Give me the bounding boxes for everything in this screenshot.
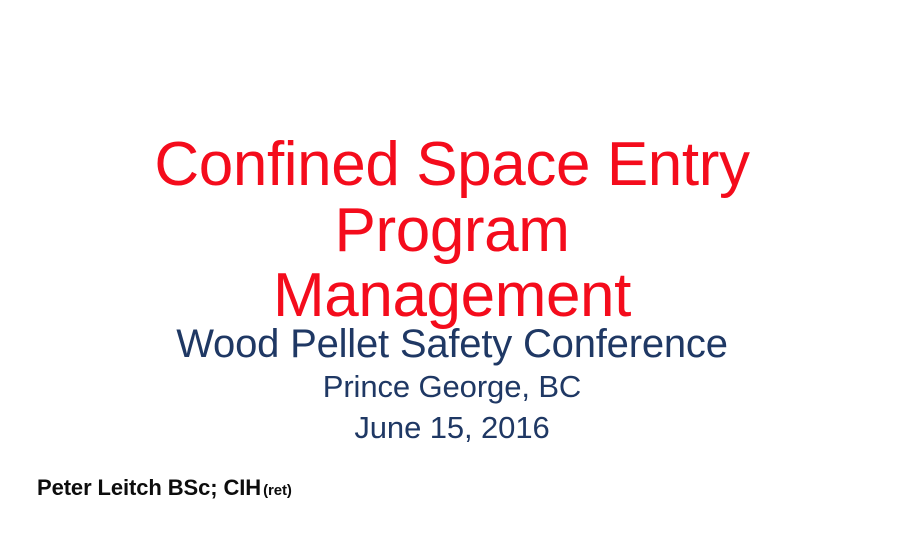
conference-location: Prince George, BC xyxy=(0,367,904,408)
title-block: Confined Space Entry Program Management xyxy=(0,132,904,329)
presenter-block: Peter Leitch BSc; CIH(ret) xyxy=(37,475,292,501)
subtitle-block: Wood Pellet Safety Conference Prince Geo… xyxy=(0,322,904,449)
presenter-name: Peter Leitch BSc; CIH xyxy=(37,475,261,500)
conference-name: Wood Pellet Safety Conference xyxy=(0,322,904,367)
conference-date: June 15, 2016 xyxy=(0,408,904,449)
presentation-title-slide: Confined Space Entry Program Management … xyxy=(0,0,904,533)
presenter-credential-suffix: (ret) xyxy=(263,482,292,499)
slide-title: Confined Space Entry Program Management xyxy=(0,132,904,329)
